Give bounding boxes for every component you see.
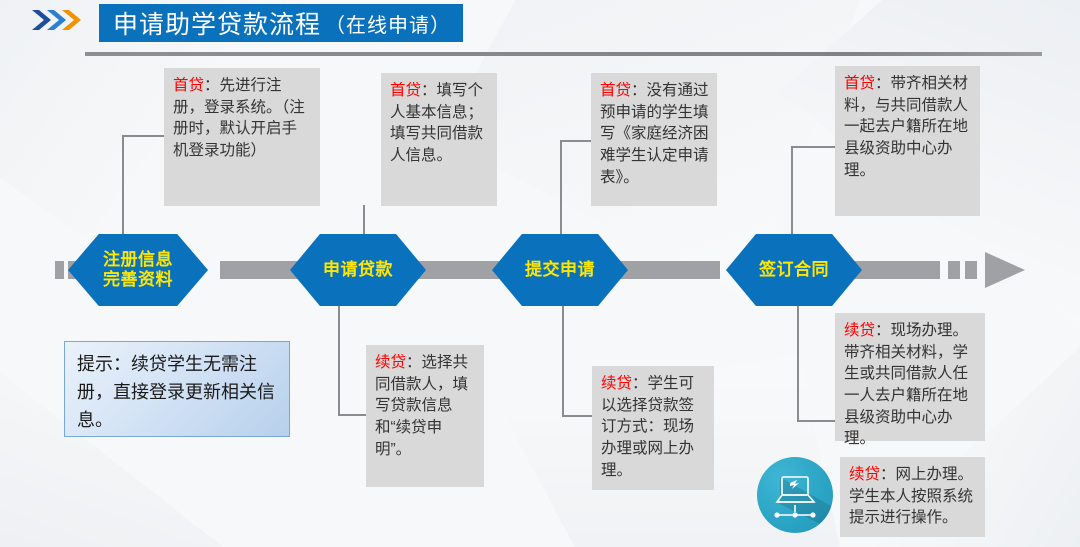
process-node-1-line2: 完善资料 xyxy=(103,270,173,290)
process-node-1[interactable]: 注册信息 完善资料 xyxy=(68,234,208,306)
note-tag: 首贷 xyxy=(600,82,631,99)
timeline-dash xyxy=(948,261,960,279)
note-tag: 首贷 xyxy=(844,75,875,92)
page-title: 申请助学贷款流程 （在线申请） xyxy=(99,4,463,42)
header-divider xyxy=(85,52,1042,56)
connector-note6 xyxy=(562,292,564,415)
tip-box: 提示：续贷学生无需注册，直接登录更新相关信息。 xyxy=(64,341,290,437)
note-box-above-2: 首贷：填写个人基本信息；填写共同借款人信息。 xyxy=(381,73,497,206)
note-text: 现场办理。带齐相关材料，学生或共同借款人任一人去户籍所在地县级资助中心办理。 xyxy=(844,322,968,447)
note-sep: ： xyxy=(632,375,648,392)
note-sep: ： xyxy=(406,354,422,371)
note-box-below-2: 续贷：学生可以选择贷款签订方式：现场办理或网上办理。 xyxy=(592,366,714,490)
process-node-3-line1: 提交申请 xyxy=(525,260,595,280)
process-node-4-line1: 签订合同 xyxy=(759,260,829,280)
timeline-arrowhead xyxy=(985,252,1025,288)
note-tag: 续贷 xyxy=(375,354,406,371)
connector-note4 xyxy=(791,146,835,148)
note-sep: ： xyxy=(880,466,896,483)
note-box-above-3: 首贷：没有通过预申请的学生填写《家庭经济困难学生认定申请表》。 xyxy=(591,73,717,206)
note-box-below-3: 续贷：现场办理。带齐相关材料，学生或共同借款人任一人去户籍所在地县级资助中心办理… xyxy=(835,313,985,441)
note-box-below-1: 续贷：选择共同借款人，填写贷款信息和“续贷申明”。 xyxy=(366,345,484,487)
process-node-2[interactable]: 申请贷款 xyxy=(290,234,426,306)
note-sep: ： xyxy=(631,82,647,99)
laptop-network-icon xyxy=(757,457,833,533)
note-sep: ： xyxy=(875,322,891,339)
process-node-3[interactable]: 提交申请 xyxy=(492,234,628,306)
note-box-above-1: 首贷：先进行注册，登录系统。（注册时，默认开启手机登录功能） xyxy=(164,68,320,206)
connector-note1 xyxy=(122,135,124,250)
page-title-main: 申请助学贷款流程 xyxy=(113,5,321,41)
note-tag: 首贷 xyxy=(390,82,421,99)
connector-note3 xyxy=(560,140,591,142)
note-tag: 续贷 xyxy=(844,322,875,339)
note-sep: ： xyxy=(204,77,220,94)
timeline-dash xyxy=(965,261,977,279)
connector-note5 xyxy=(338,292,340,414)
timeline-dash xyxy=(55,261,64,279)
process-node-1-line1: 注册信息 xyxy=(103,250,173,270)
process-node-4[interactable]: 签订合同 xyxy=(726,234,862,306)
connector-note6 xyxy=(562,415,592,417)
connector-note3 xyxy=(560,140,562,250)
connector-note7 xyxy=(797,292,799,422)
note-tag: 续贷 xyxy=(601,375,632,392)
note-tag: 续贷 xyxy=(849,466,880,483)
connector-note1 xyxy=(122,135,164,137)
triple-chevron-icon xyxy=(30,6,86,34)
note-sep: ： xyxy=(421,82,437,99)
process-node-2-line1: 申请贷款 xyxy=(323,260,393,280)
page-title-sub: （在线申请） xyxy=(325,9,451,38)
tip-text: 提示：续贷学生无需注册，直接登录更新相关信息。 xyxy=(77,354,275,430)
note-box-below-4: 续贷：网上办理。学生本人按照系统提示进行操作。 xyxy=(840,457,985,537)
connector-note5 xyxy=(338,414,366,416)
connector-note7 xyxy=(797,420,835,422)
note-tag: 首贷 xyxy=(173,77,204,94)
note-sep: ： xyxy=(875,75,891,92)
note-box-above-4: 首贷：带齐相关材料，与共同借款人一起去户籍所在地县级资助中心办理。 xyxy=(835,66,980,216)
